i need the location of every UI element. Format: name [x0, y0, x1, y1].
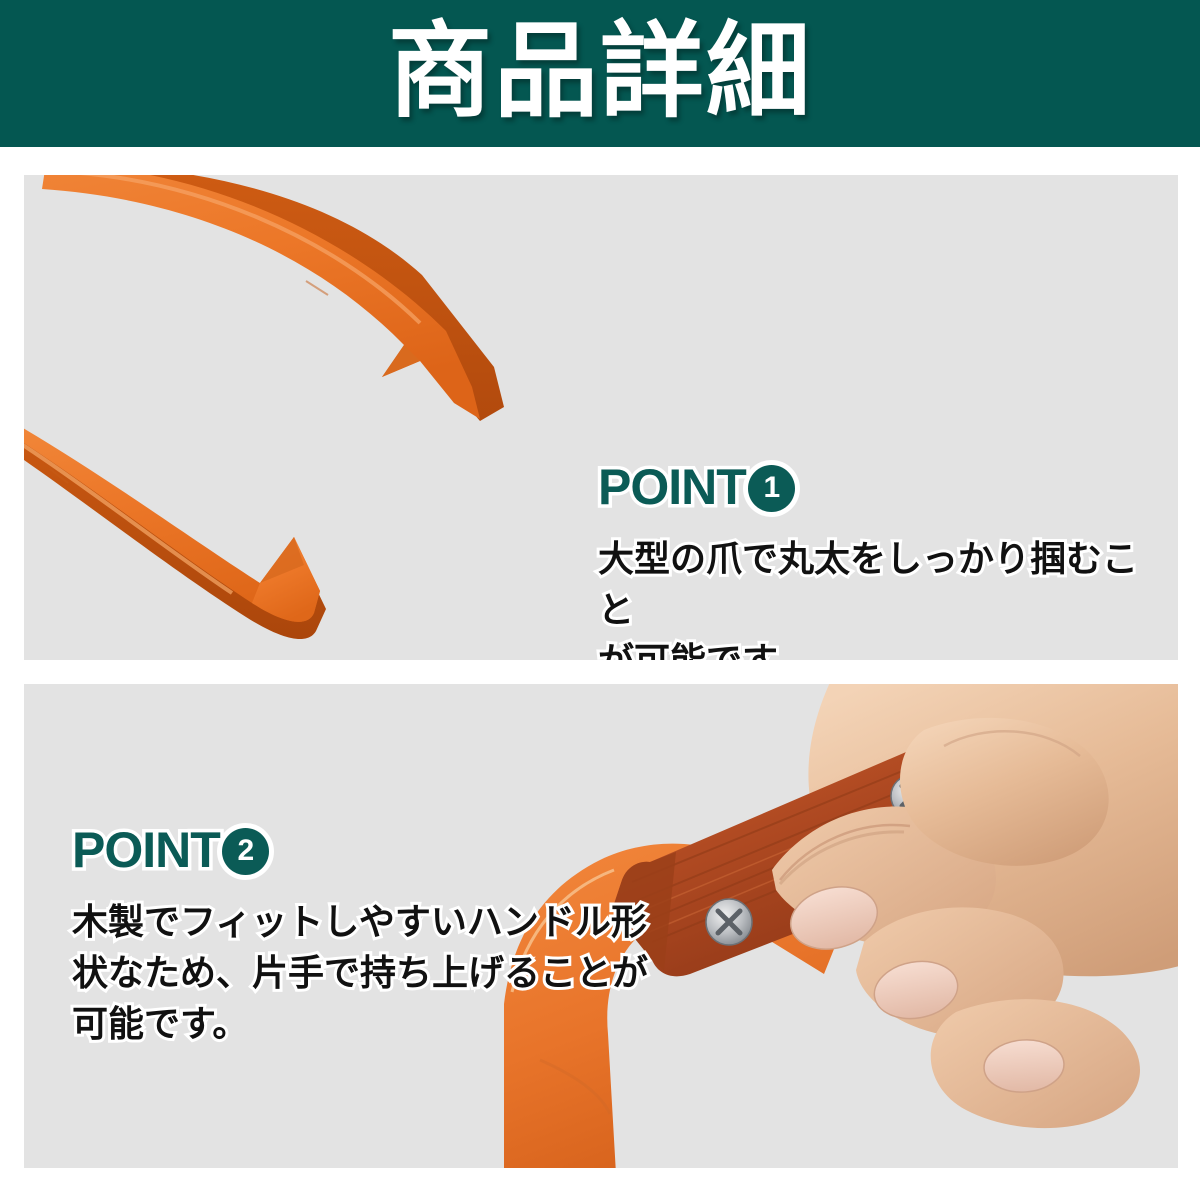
feature-panel-point-2: POINT 2 木製でフィットしやすいハンドル形 状なため、片手で持ち上げること… [24, 684, 1178, 1168]
point-2-body-text: 木製でフィットしやすいハンドル形 状なため、片手で持ち上げることが 可能です。 [72, 896, 652, 1049]
page-title: 商品詳細 [388, 20, 812, 124]
product-detail-page: 商品詳細 [0, 0, 1200, 1200]
screw-left-icon [706, 899, 752, 945]
point-1-label: POINT [598, 462, 746, 512]
feature-panel-point-1: POINT 1 大型の爪で丸太をしっかり掴むこと が可能です。 屈まず持ち運びが… [24, 175, 1178, 660]
circled-number-one-icon: 1 [748, 465, 795, 512]
page-header-banner: 商品詳細 [0, 0, 1200, 147]
orange-claw-bottom-illustration [24, 405, 384, 660]
point-1-body-text: 大型の爪で丸太をしっかり掴むこと が可能です。 屈まず持ち運びができるので、作業… [598, 533, 1158, 660]
point-1-heading: POINT 1 [598, 462, 795, 512]
circled-number-two-icon: 2 [222, 828, 269, 875]
point-2-heading: POINT 2 [72, 825, 269, 875]
point-2-label: POINT [72, 825, 220, 875]
